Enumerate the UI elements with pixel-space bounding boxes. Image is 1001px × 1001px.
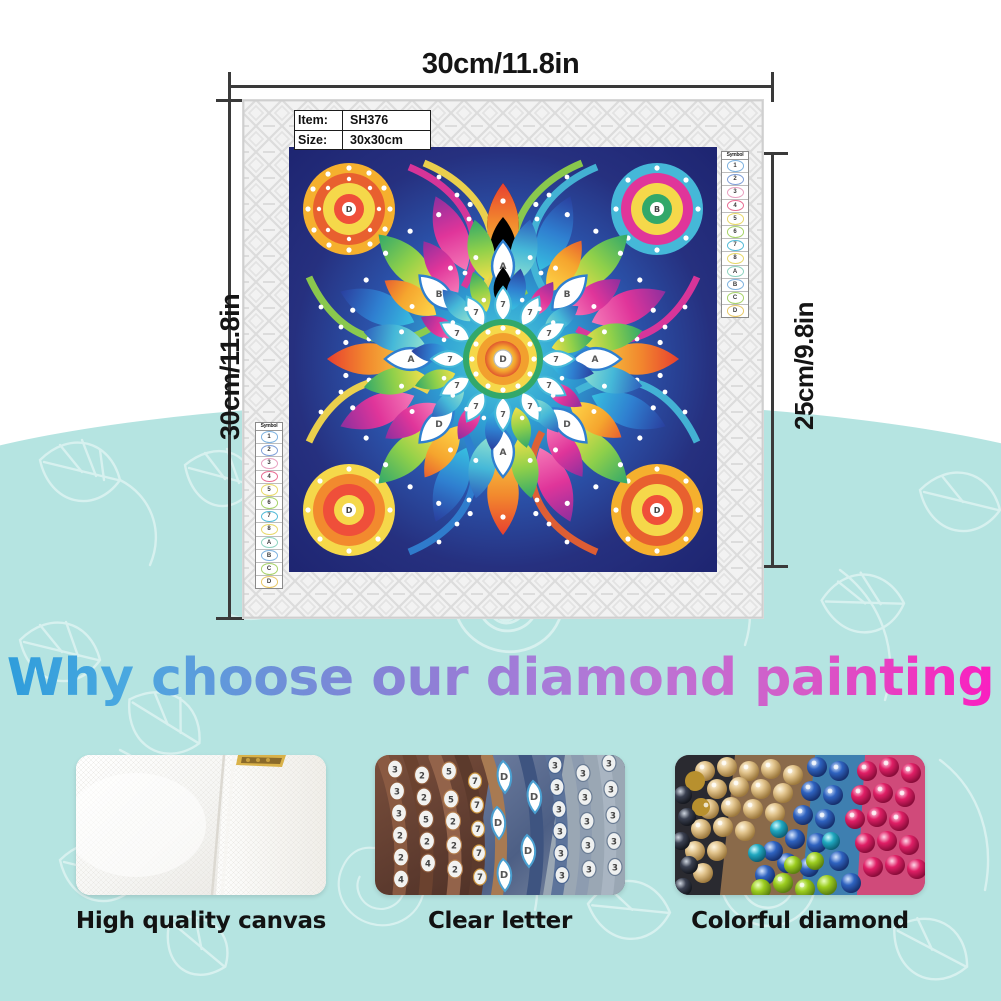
- svg-text:2: 2: [397, 832, 403, 842]
- svg-text:7: 7: [474, 801, 480, 811]
- svg-text:5: 5: [448, 796, 454, 806]
- numbered-canvas-closeup-photo: 3 3 3 2 2 4 2: [375, 755, 625, 895]
- spec-row-item: Item: SH376: [295, 111, 430, 131]
- svg-text:7: 7: [546, 381, 552, 390]
- feature-cards: 3 3 3 2 2 4 2: [0, 755, 1001, 900]
- symbol-legend-row: 1: [256, 431, 282, 444]
- svg-text:2: 2: [452, 866, 458, 876]
- svg-text:7: 7: [454, 329, 460, 338]
- mandala-artwork: D B: [289, 147, 717, 572]
- symbol-swatch: 6: [261, 497, 278, 508]
- symbol-legend-row: 3: [256, 457, 282, 470]
- svg-text:3: 3: [610, 812, 616, 822]
- svg-text:2: 2: [450, 818, 456, 828]
- symbol-legend-row: D: [722, 305, 748, 317]
- symbol-swatch: 3: [727, 187, 744, 198]
- symbol-swatch: 5: [727, 213, 744, 224]
- svg-text:5: 5: [423, 816, 429, 826]
- symbol-legend-row: B: [722, 279, 748, 292]
- spec-label-box: Item: SH376 Size: 30x30cm: [294, 110, 431, 150]
- symbol-swatch: B: [727, 279, 744, 290]
- feature-card-diamond[interactable]: [675, 755, 925, 895]
- svg-text:7: 7: [500, 300, 506, 309]
- symbol-legend-row: 7: [256, 510, 282, 523]
- svg-text:3: 3: [606, 760, 612, 770]
- symbol-swatch: 3: [261, 458, 278, 469]
- svg-text:3: 3: [559, 872, 565, 882]
- feature-card-canvas[interactable]: [76, 755, 326, 895]
- caption-diamond: Colorful diamond: [640, 908, 960, 934]
- svg-text:3: 3: [611, 838, 617, 848]
- symbol-legend-row: 6: [256, 497, 282, 510]
- symbol-swatch: 8: [261, 524, 278, 535]
- symbol-legend-row: 5: [256, 484, 282, 497]
- spec-row-size: Size: 30x30cm: [295, 131, 430, 150]
- svg-text:3: 3: [608, 786, 614, 796]
- symbol-swatch: 5: [261, 484, 278, 495]
- svg-text:4: 4: [425, 860, 431, 870]
- svg-text:D: D: [494, 818, 502, 829]
- svg-text:2: 2: [421, 794, 427, 804]
- svg-text:3: 3: [392, 766, 398, 776]
- symbol-legend-row: 8: [722, 252, 748, 265]
- dim-line-right: [771, 152, 774, 567]
- spec-size-key: Size:: [295, 131, 343, 150]
- dim-label-left: 30cm/11.8in: [215, 294, 246, 440]
- symbol-legend-row: 2: [722, 173, 748, 186]
- spec-item-value: SH376: [343, 111, 430, 130]
- svg-text:7: 7: [472, 777, 478, 787]
- symbol-swatch: D: [261, 576, 278, 587]
- svg-text:3: 3: [554, 784, 560, 794]
- svg-text:7: 7: [447, 355, 453, 364]
- symbol-swatch: A: [727, 266, 744, 277]
- svg-text:3: 3: [552, 762, 558, 772]
- symbol-swatch: D: [727, 305, 744, 316]
- svg-text:3: 3: [584, 818, 590, 828]
- svg-text:A: A: [592, 355, 599, 365]
- white-canvas-fabric-photo: [76, 755, 326, 895]
- symbol-swatch: 7: [727, 240, 744, 251]
- symbol-swatch: 8: [727, 253, 744, 264]
- symbol-swatch: 7: [261, 511, 278, 522]
- svg-text:D: D: [530, 792, 538, 803]
- symbol-legend-row: 1: [722, 160, 748, 173]
- symbol-legend-row: 2: [256, 444, 282, 457]
- svg-text:4: 4: [398, 876, 404, 886]
- colorful-round-beads-photo: [675, 755, 925, 895]
- spec-size-value: 30x30cm: [343, 131, 430, 150]
- svg-text:3: 3: [556, 806, 562, 816]
- dim-tick-right-bottom: [760, 565, 788, 568]
- symbol-legend-row: 6: [722, 226, 748, 239]
- spec-item-key: Item:: [295, 111, 343, 130]
- svg-text:7: 7: [527, 308, 533, 317]
- svg-text:D: D: [524, 846, 532, 857]
- svg-text:7: 7: [500, 410, 506, 419]
- symbol-legend-right: Symbol 12345678ABCD: [721, 151, 749, 318]
- symbol-legend-row: 8: [256, 523, 282, 536]
- svg-text:B: B: [564, 290, 571, 300]
- symbol-swatch: 4: [261, 471, 278, 482]
- svg-text:7: 7: [475, 825, 481, 835]
- svg-text:3: 3: [612, 864, 618, 874]
- svg-text:5: 5: [446, 768, 452, 778]
- symbol-legend-row: B: [256, 550, 282, 563]
- svg-text:D: D: [435, 420, 442, 430]
- svg-text:7: 7: [477, 873, 483, 883]
- svg-text:7: 7: [553, 355, 559, 364]
- svg-text:7: 7: [454, 381, 460, 390]
- symbol-swatch: A: [261, 537, 278, 548]
- headline-text: Why choose our diamond painting: [7, 648, 994, 708]
- svg-text:2: 2: [419, 772, 425, 782]
- svg-text:2: 2: [424, 838, 430, 848]
- dim-tick-right-top: [760, 152, 788, 155]
- svg-text:7: 7: [546, 329, 552, 338]
- dim-label-right: 25cm/9.8in: [789, 302, 820, 430]
- symbol-legend-row: A: [256, 537, 282, 550]
- symbol-swatch: 2: [727, 174, 744, 185]
- svg-text:7: 7: [476, 849, 482, 859]
- symbol-swatch: 1: [261, 431, 278, 442]
- symbol-legend-row: C: [722, 292, 748, 305]
- dim-label-top: 30cm/11.8in: [0, 48, 1001, 81]
- symbol-legend-right-header: Symbol: [722, 152, 748, 160]
- diamond-painting-canvas: D B: [243, 100, 763, 618]
- svg-text:7: 7: [527, 402, 533, 411]
- svg-text:D: D: [499, 355, 506, 365]
- svg-text:D: D: [563, 420, 570, 430]
- caption-canvas: High quality canvas: [41, 908, 361, 934]
- svg-text:D: D: [654, 506, 661, 515]
- symbol-swatch: 2: [261, 445, 278, 456]
- svg-text:3: 3: [396, 810, 402, 820]
- svg-text:3: 3: [394, 788, 400, 798]
- symbol-legend-row: 3: [722, 186, 748, 199]
- svg-text:3: 3: [585, 842, 591, 852]
- feature-captions: High quality canvas Clear letter Colorfu…: [0, 908, 1001, 948]
- symbol-swatch: C: [261, 563, 278, 574]
- feature-card-letter[interactable]: 3 3 3 2 2 4 2: [375, 755, 625, 895]
- svg-text:B: B: [654, 205, 660, 214]
- svg-text:3: 3: [557, 828, 563, 838]
- symbol-legend-row: C: [256, 563, 282, 576]
- symbol-legend-row: 4: [256, 471, 282, 484]
- symbol-swatch: C: [727, 292, 744, 303]
- dim-tick-left-top: [216, 99, 244, 102]
- dim-tick-left-bottom: [216, 617, 244, 620]
- caption-letter: Clear letter: [340, 908, 660, 934]
- svg-text:7: 7: [473, 308, 479, 317]
- dim-line-top: [228, 85, 773, 88]
- svg-text:D: D: [346, 506, 353, 515]
- svg-text:2: 2: [451, 842, 457, 852]
- svg-text:B: B: [436, 290, 443, 300]
- svg-text:3: 3: [558, 850, 564, 860]
- symbol-legend-row: A: [722, 266, 748, 279]
- symbol-legend-row: 5: [722, 213, 748, 226]
- symbol-legend-left: Symbol 12345678ABCD: [255, 422, 283, 589]
- svg-text:D: D: [500, 870, 508, 881]
- svg-text:2: 2: [398, 854, 404, 864]
- symbol-swatch: 6: [727, 226, 744, 237]
- symbol-legend-row: 4: [722, 200, 748, 213]
- svg-text:A: A: [408, 355, 415, 365]
- svg-text:3: 3: [580, 770, 586, 780]
- symbol-legend-row: 7: [722, 239, 748, 252]
- svg-text:A: A: [500, 448, 507, 458]
- symbol-swatch: 4: [727, 200, 744, 211]
- section-headline: Why choose our diamond painting Why choo…: [0, 648, 1001, 708]
- infographic-canvas: 30cm/11.8in 30cm/11.8in 25cm/9.8in: [0, 0, 1001, 1001]
- symbol-legend-left-header: Symbol: [256, 423, 282, 431]
- svg-text:7: 7: [473, 402, 479, 411]
- svg-text:3: 3: [582, 794, 588, 804]
- symbol-swatch: 1: [727, 160, 744, 171]
- symbol-swatch: B: [261, 550, 278, 561]
- symbol-legend-row: D: [256, 576, 282, 588]
- svg-text:D: D: [346, 205, 353, 214]
- svg-text:3: 3: [586, 866, 592, 876]
- svg-text:D: D: [500, 772, 508, 783]
